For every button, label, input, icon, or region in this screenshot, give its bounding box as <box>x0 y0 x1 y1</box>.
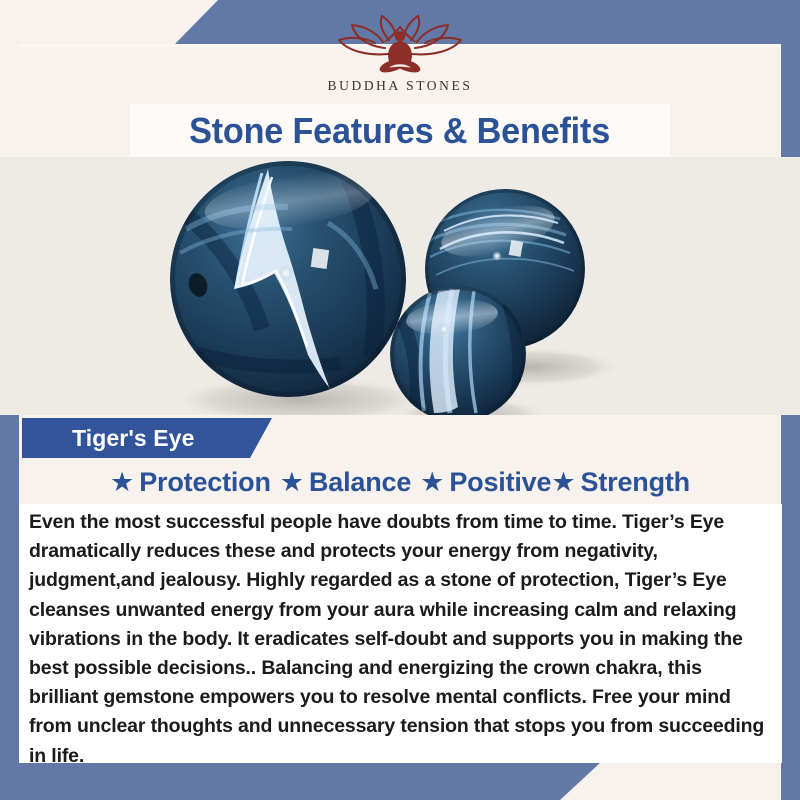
brand-logo: BUDDHA STONES <box>0 12 800 104</box>
lotus-meditation-icon <box>325 12 475 76</box>
brand-wordmark: BUDDHA STONES <box>328 78 473 94</box>
benefit-label: Protection <box>139 469 271 496</box>
star-icon: ★ <box>280 469 304 496</box>
stone-name-badge: Tiger's Eye <box>22 418 272 458</box>
benefit-item: ★ Strength <box>551 469 690 496</box>
description-block: Even the most successful people have dou… <box>19 504 782 763</box>
benefit-item: ★ Balance <box>280 469 411 496</box>
product-photo <box>0 157 800 415</box>
stone-name-label: Tiger's Eye <box>72 425 195 452</box>
benefit-label: Positive <box>449 469 551 496</box>
benefit-label: Strength <box>581 469 690 496</box>
infographic-page: BUDDHA STONES Stone Features & Benefits <box>0 0 800 800</box>
benefit-item: ★ Positive <box>420 469 551 496</box>
title-banner: Stone Features & Benefits <box>130 104 670 157</box>
star-icon: ★ <box>110 469 134 496</box>
page-title: Stone Features & Benefits <box>190 110 611 152</box>
benefit-item: ★ Protection <box>110 469 271 496</box>
star-icon: ★ <box>551 469 575 496</box>
description-text: Even the most successful people have dou… <box>19 508 782 771</box>
benefit-label: Balance <box>309 469 411 496</box>
star-icon: ★ <box>420 469 444 496</box>
benefits-row: ★ Protection ★ Balance ★ Positive ★ Stre… <box>0 462 800 502</box>
blue-tigers-eye-beads-illustration <box>0 157 800 415</box>
